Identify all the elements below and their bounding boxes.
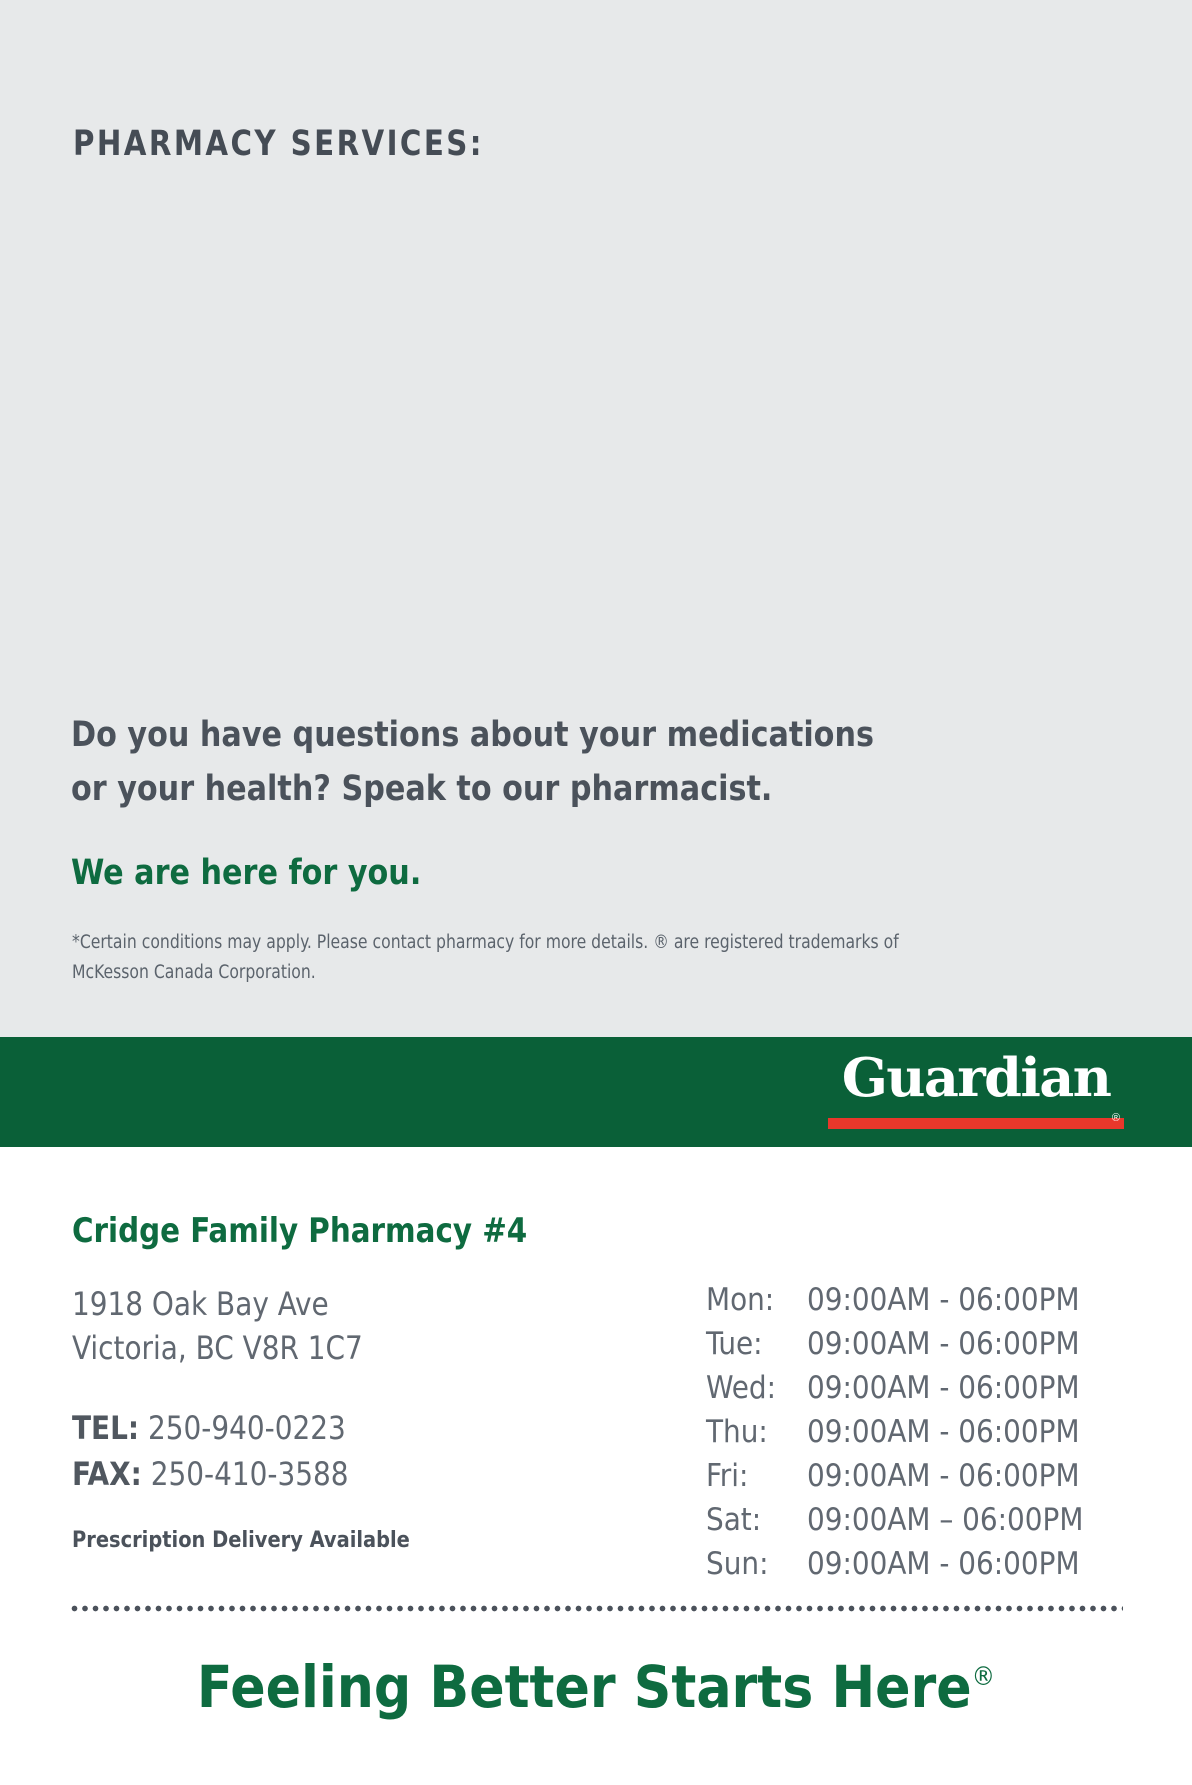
hours-row: Wed: 09:00AM - 06:00PM (706, 1370, 1126, 1414)
hours-day: Thu: (706, 1414, 807, 1450)
delivery-note: Prescription Delivery Available (72, 1527, 410, 1553)
footer-tagline: Feeling Better Starts Here® (0, 1653, 1192, 1721)
hours-day: Fri: (706, 1458, 807, 1494)
registered-trademark-icon: ® (1112, 1113, 1120, 1124)
dotted-divider (71, 1605, 1123, 1612)
registered-trademark-icon: ® (972, 1662, 995, 1692)
hours-row: Sat: 09:00AM – 06:00PM (706, 1502, 1126, 1546)
telephone-label: TEL: (72, 1409, 139, 1447)
hours-row: Mon: 09:00AM - 06:00PM (706, 1282, 1126, 1326)
telephone-value: 250-940-0223 (148, 1409, 346, 1447)
hours-day: Sat: (706, 1502, 807, 1538)
store-address: 1918 Oak Bay Ave Victoria, BC V8R 1C7 (72, 1282, 592, 1370)
store-contact: TEL: 250-940-0223 FAX: 250-410-3588 (72, 1405, 592, 1497)
promo-question-line-1: Do you have questions about your medicat… (71, 708, 983, 762)
hours-day: Mon: (706, 1282, 807, 1318)
guardian-red-rule (828, 1118, 1124, 1129)
fax-row: FAX: 250-410-3588 (72, 1451, 576, 1497)
fax-value: 250-410-3588 (151, 1455, 349, 1493)
hours-time: 09:00AM – 06:00PM (807, 1502, 1083, 1538)
promo-question-block: Do you have questions about your medicat… (71, 708, 1021, 816)
hours-time: 09:00AM - 06:00PM (807, 1370, 1080, 1406)
page-title: PHARMACY SERVICES: (73, 124, 484, 164)
telephone-row: TEL: 250-940-0223 (72, 1405, 576, 1451)
hours-time: 09:00AM - 06:00PM (807, 1414, 1080, 1450)
store-name: Cridge Family Pharmacy #4 (72, 1211, 527, 1251)
address-line-1: 1918 Oak Bay Ave (72, 1282, 576, 1326)
store-hours: Mon: 09:00AM - 06:00PM Tue: 09:00AM - 06… (706, 1282, 1126, 1590)
promo-highlight: We are here for you. (71, 853, 421, 893)
hours-time: 09:00AM - 06:00PM (807, 1326, 1080, 1362)
legal-fineprint: *Certain conditions may apply. Please co… (72, 928, 918, 988)
pharmacy-services-panel: PHARMACY SERVICES: Do you have questions… (0, 0, 1192, 1037)
brand-band: Guardian ® (0, 1037, 1192, 1147)
hours-day: Sun: (706, 1546, 807, 1582)
hours-row: Thu: 09:00AM - 06:00PM (706, 1414, 1126, 1458)
hours-time: 09:00AM - 06:00PM (807, 1458, 1080, 1494)
hours-row: Fri: 09:00AM - 06:00PM (706, 1458, 1126, 1502)
hours-day: Wed: (706, 1370, 807, 1406)
guardian-wordmark: Guardian (825, 1047, 1127, 1109)
hours-row: Tue: 09:00AM - 06:00PM (706, 1326, 1126, 1370)
promo-question-line-2: or your health? Speak to our pharmacist. (71, 762, 983, 816)
hours-day: Tue: (706, 1326, 807, 1362)
hours-time: 09:00AM - 06:00PM (807, 1282, 1080, 1318)
footer-tagline-text: Feeling Better Starts Here (197, 1653, 972, 1721)
hours-row: Sun: 09:00AM - 06:00PM (706, 1546, 1126, 1590)
hours-time: 09:00AM - 06:00PM (807, 1546, 1080, 1582)
guardian-logo: Guardian ® (828, 1051, 1124, 1133)
address-line-2: Victoria, BC V8R 1C7 (72, 1326, 576, 1370)
fax-label: FAX: (72, 1455, 142, 1493)
